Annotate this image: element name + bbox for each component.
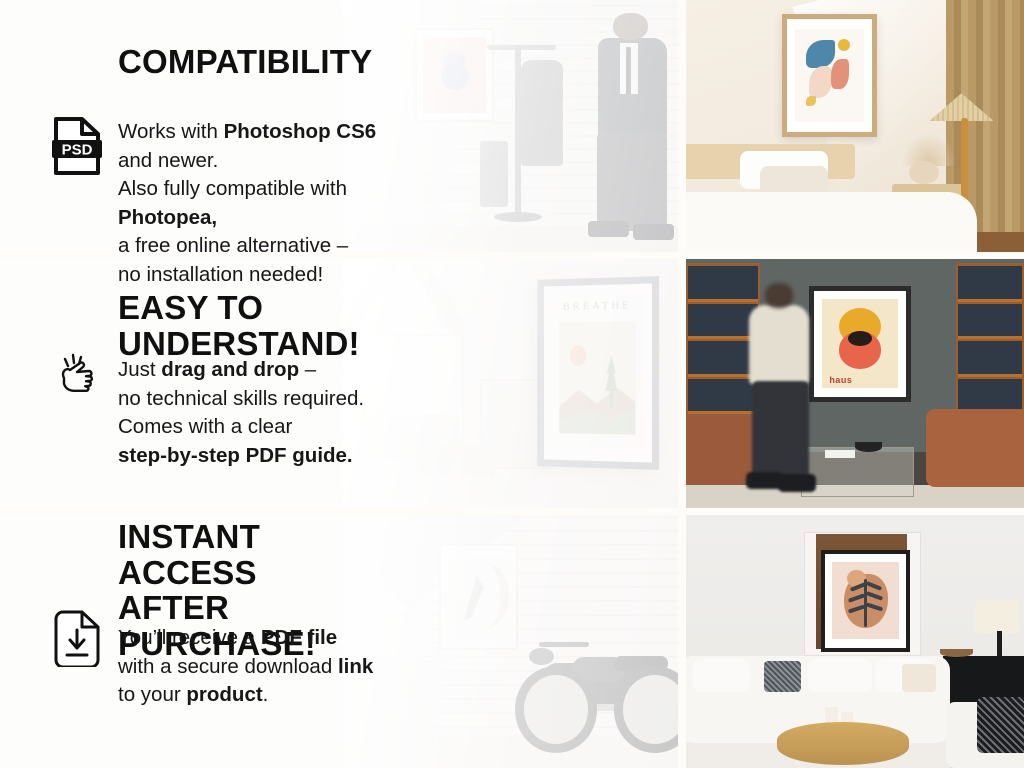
section-compatibility: PSD COMPATIBILITY Works with Photoshop C… bbox=[0, 0, 1024, 252]
easy-text-column: EASY TO UNDERSTAND! Just drag and drop –… bbox=[0, 258, 400, 510]
easy-body: Just drag and drop –no technical skills … bbox=[118, 356, 364, 470]
psd-file-icon: PSD bbox=[52, 117, 102, 175]
compatibility-text-column: PSD COMPATIBILITY Works with Photoshop C… bbox=[0, 0, 400, 252]
page-title-compatibility: COMPATIBILITY bbox=[118, 44, 372, 80]
haus-poster-caption: haus bbox=[829, 375, 852, 385]
row-divider-2 bbox=[0, 508, 1024, 515]
section-instant-access: INSTANT ACCESS AFTER PURCHASE! You’ll re… bbox=[0, 514, 1024, 768]
instant-text-column: INSTANT ACCESS AFTER PURCHASE! You’ll re… bbox=[0, 514, 400, 768]
infographic-page: PSD COMPATIBILITY Works with Photoshop C… bbox=[0, 0, 1024, 768]
page-title-easy: EASY TO UNDERSTAND! bbox=[118, 290, 400, 361]
file-download-icon bbox=[52, 609, 102, 667]
row-divider-1 bbox=[0, 252, 1024, 259]
column-divider bbox=[678, 0, 686, 768]
library-haus-poster-mockup-photo: haus bbox=[686, 258, 1024, 510]
instant-body: You’ll receive a PDF filewith a secure d… bbox=[118, 624, 373, 710]
bedroom-poster-mockup-photo bbox=[686, 0, 1024, 252]
section-easy-to-understand: BREATHE bbox=[0, 258, 1024, 510]
click-hand-icon bbox=[52, 350, 104, 402]
svg-text:PSD: PSD bbox=[62, 142, 93, 159]
living-room-poster-mockup-photo bbox=[686, 514, 1024, 768]
